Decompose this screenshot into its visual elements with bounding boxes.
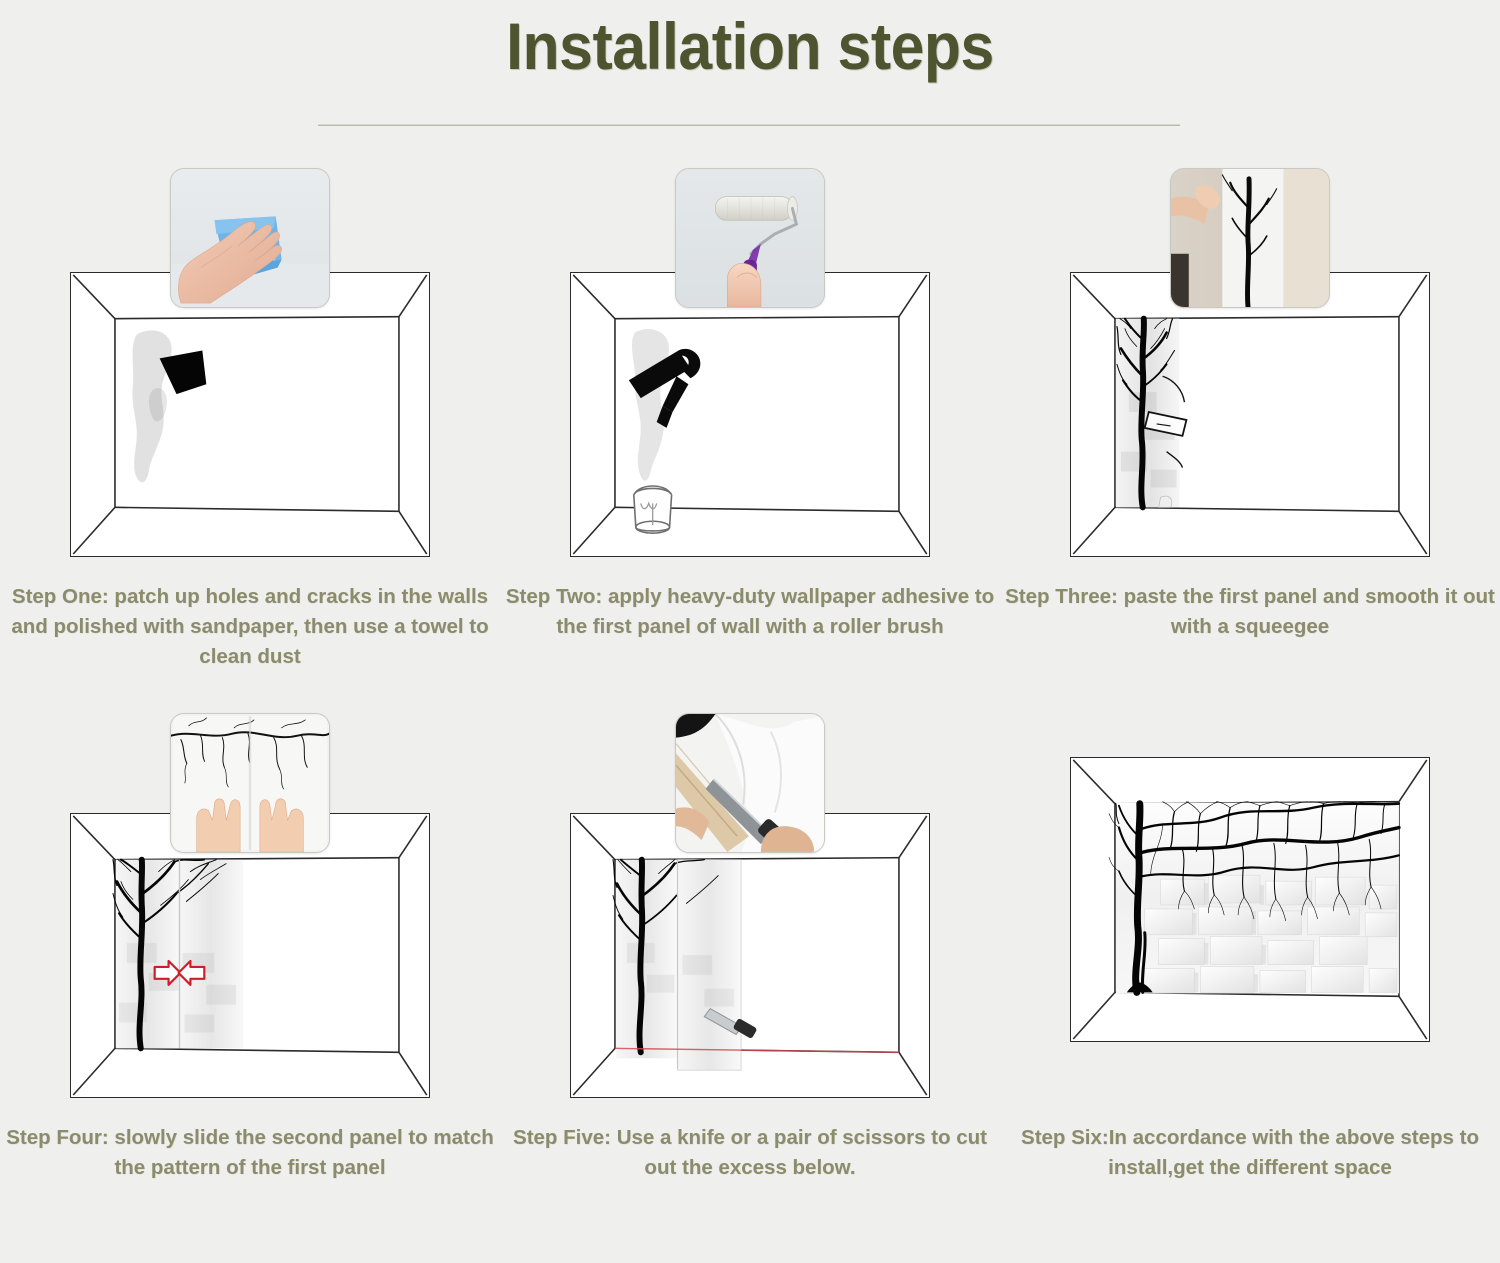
step-card-four: Step Four: slowly slide the second panel… [0,705,500,1260]
steps-row-top: Step One: patch up holes and cracks in t… [0,150,1500,705]
room-diagram-step-three [1070,272,1430,557]
knife-cutting-photo [675,713,825,853]
step-card-five: Step Five: Use a knife or a pair of scis… [500,705,1000,1260]
room-diagram-step-one [70,272,430,557]
step-caption-one: Step One: patch up holes and cracks in t… [0,582,500,672]
step-caption-four: Step Four: slowly slide the second panel… [0,1123,500,1183]
step-caption-three: Step Three: paste the first panel and sm… [1000,582,1500,642]
step-caption-five: Step Five: Use a knife or a pair of scis… [500,1123,1000,1183]
title-divider [318,124,1180,126]
step-card-three: Step Three: paste the first panel and sm… [1000,150,1500,705]
two-hands-panels-photo [170,713,330,853]
hand-with-cloth-photo [170,168,330,308]
steps-row-bottom: Step Four: slowly slide the second panel… [0,705,1500,1260]
paint-roller-photo [675,168,825,308]
room-diagram-step-five [570,813,930,1098]
room-diagram-step-six [1070,757,1430,1042]
page-title: Installation steps [60,8,1440,84]
step-caption-two: Step Two: apply heavy-duty wallpaper adh… [500,582,1000,642]
room-diagram-step-two [570,272,930,557]
step-card-six: Step Six:In accordance with the above st… [1000,705,1500,1260]
step-card-two: Step Two: apply heavy-duty wallpaper adh… [500,150,1000,705]
step-caption-six: Step Six:In accordance with the above st… [1000,1123,1500,1183]
steps-grid: Step One: patch up holes and cracks in t… [0,150,1500,1260]
installation-steps-infographic: Installation steps [0,0,1500,1263]
step-card-one: Step One: patch up holes and cracks in t… [0,150,500,705]
room-diagram-step-four [70,813,430,1098]
paste-panel-photo [1170,168,1330,308]
